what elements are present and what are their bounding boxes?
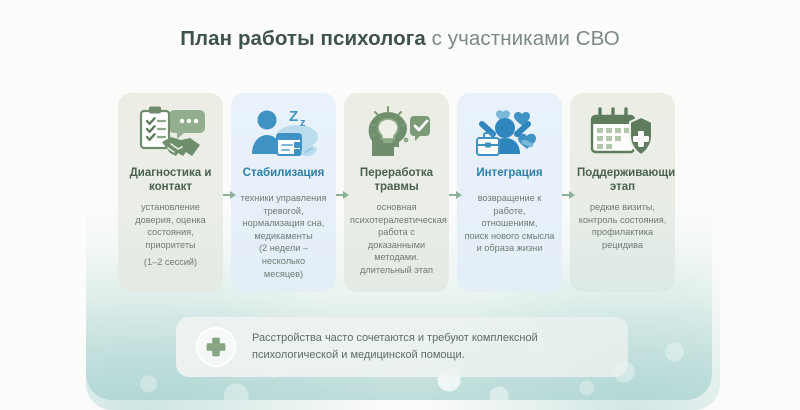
clipboard-checklist-icon [134, 104, 208, 162]
stage-icon-group-2: Z z [236, 102, 331, 164]
stage-body-line: длительный этап [350, 264, 443, 277]
stage-card-pererabotka-travmy[interactable]: Переработка травмы основная психотералев… [344, 93, 449, 292]
stage-heading-5: Поддерживающий этап [575, 166, 670, 194]
stage-body-line: отношениям, [463, 217, 556, 230]
footer-note-line: психологической и медицинской помощи. [252, 347, 538, 364]
svg-text:z: z [300, 117, 306, 129]
stage-body-line: (2 недели – несколько [237, 242, 330, 267]
stage-body-line: возвращение к работе, [463, 192, 556, 217]
stage-card-row: Диагностика и контакт установление довер… [118, 93, 686, 293]
stage-body-line: поиск нового смысла [463, 230, 556, 243]
arrow-right-icon [336, 188, 349, 200]
stage-body-line: основная [350, 201, 443, 214]
head-profile-icon [360, 104, 434, 162]
stage-body-2: техники управления тревогой, нормализаци… [236, 192, 331, 280]
svg-text:Z: Z [289, 108, 298, 125]
stage-card-diagnostika[interactable]: Диагностика и контакт установление довер… [118, 93, 223, 292]
page-title: План работы психолога с участниками СВО [0, 26, 800, 52]
stage-body-line: установление [124, 201, 217, 214]
stage-heading-line: Интеграция [476, 167, 542, 179]
stage-heading-line: Поддерживающий [577, 167, 675, 179]
stage-card-stabilizatsiya[interactable]: Z z [231, 93, 336, 292]
person-arms-up-icon [473, 104, 547, 162]
page-title-light: с участниками СВО [432, 27, 620, 50]
stage-body-line: и образа жизни [463, 242, 556, 255]
stage-heading-line: этап [610, 181, 635, 193]
stage-icon-group-5 [575, 102, 670, 164]
stage-body-line: (1–2 сессий) [124, 256, 217, 269]
stage-body-line: рецидива [576, 239, 669, 252]
stage-body-line: психотералевтическая [350, 214, 443, 227]
footer-note-text: Расстройства часто сочетаются и требуют … [252, 330, 538, 364]
medical-cross-icon [196, 327, 236, 367]
speech-bubble-icon [169, 110, 205, 139]
arrow-right-icon [449, 188, 462, 200]
footer-note-line: Расстройства часто сочетаются и требуют … [252, 330, 538, 347]
stage-icon-group-1 [123, 102, 218, 164]
stage-heading-4: Интеграция [462, 166, 557, 180]
stage-heading-2: Стабилизация [236, 166, 331, 180]
stage-body-line: профилактика [576, 226, 669, 239]
stage-heading-3: Переработка травмы [349, 166, 444, 194]
person-icon: Z z [247, 104, 321, 162]
stage-card-integratsiya[interactable]: Интеграция возвращение к работе, отношен… [457, 93, 562, 292]
stage-heading-line: Переработка [360, 167, 433, 179]
stage-body-5: редкие визиты, контроль состояния, профи… [575, 201, 670, 251]
stage-body-line: месяцев) [237, 268, 330, 281]
page-title-strong: План работы психолога [180, 27, 426, 50]
stage-card-podderzhivayushchiy-etap[interactable]: Поддерживающий этап редкие визиты, контр… [570, 93, 675, 292]
stage-body-4: возвращение к работе, отношениям, поиск … [462, 192, 557, 255]
stage-icon-group-4 [462, 102, 557, 164]
thought-dot [403, 138, 408, 143]
stage-body-line: нормализация сна, [237, 217, 330, 230]
briefcase-icon [477, 133, 499, 155]
arrow-right-icon [562, 188, 575, 200]
medicine-box-icon [277, 134, 301, 155]
stage-icon-group-3 [349, 102, 444, 164]
stage-heading-line: травмы [374, 181, 418, 193]
stage-body-line: состояния, приоритеты [124, 226, 217, 251]
stage-body-line: методами. [350, 251, 443, 264]
checkbox-checked-icon [410, 116, 430, 141]
stage-heading-line: Стабилизация [243, 167, 325, 179]
stage-heading-line: Диагностика [130, 167, 202, 179]
stage-body-line: контроль состояния, [576, 214, 669, 227]
arrow-right-icon [223, 188, 236, 200]
stage-body-line: доверия, оценка [124, 214, 217, 227]
footer-note-banner: Расстройства часто сочетаются и требуют … [176, 317, 628, 377]
calendar-icon [586, 104, 660, 162]
stage-body-line: работа с доказанными [350, 226, 443, 251]
stage-heading-1: Диагностика и контакт [123, 166, 218, 194]
handshake-icon [162, 137, 200, 156]
stage-body-line: тревогой, [237, 205, 330, 218]
calendar-body-icon [592, 109, 634, 152]
stage-body-1: установление доверия, оценка состояния, … [123, 201, 218, 269]
stage-body-line: техники управления [237, 192, 330, 205]
stage-body-3: основная психотералевтическая работа с д… [349, 201, 444, 277]
infographic-canvas: План работы психолога с участниками СВО [0, 0, 800, 400]
stage-body-line: редкие визиты, [576, 201, 669, 214]
stage-body-line: медикаменты [237, 230, 330, 243]
